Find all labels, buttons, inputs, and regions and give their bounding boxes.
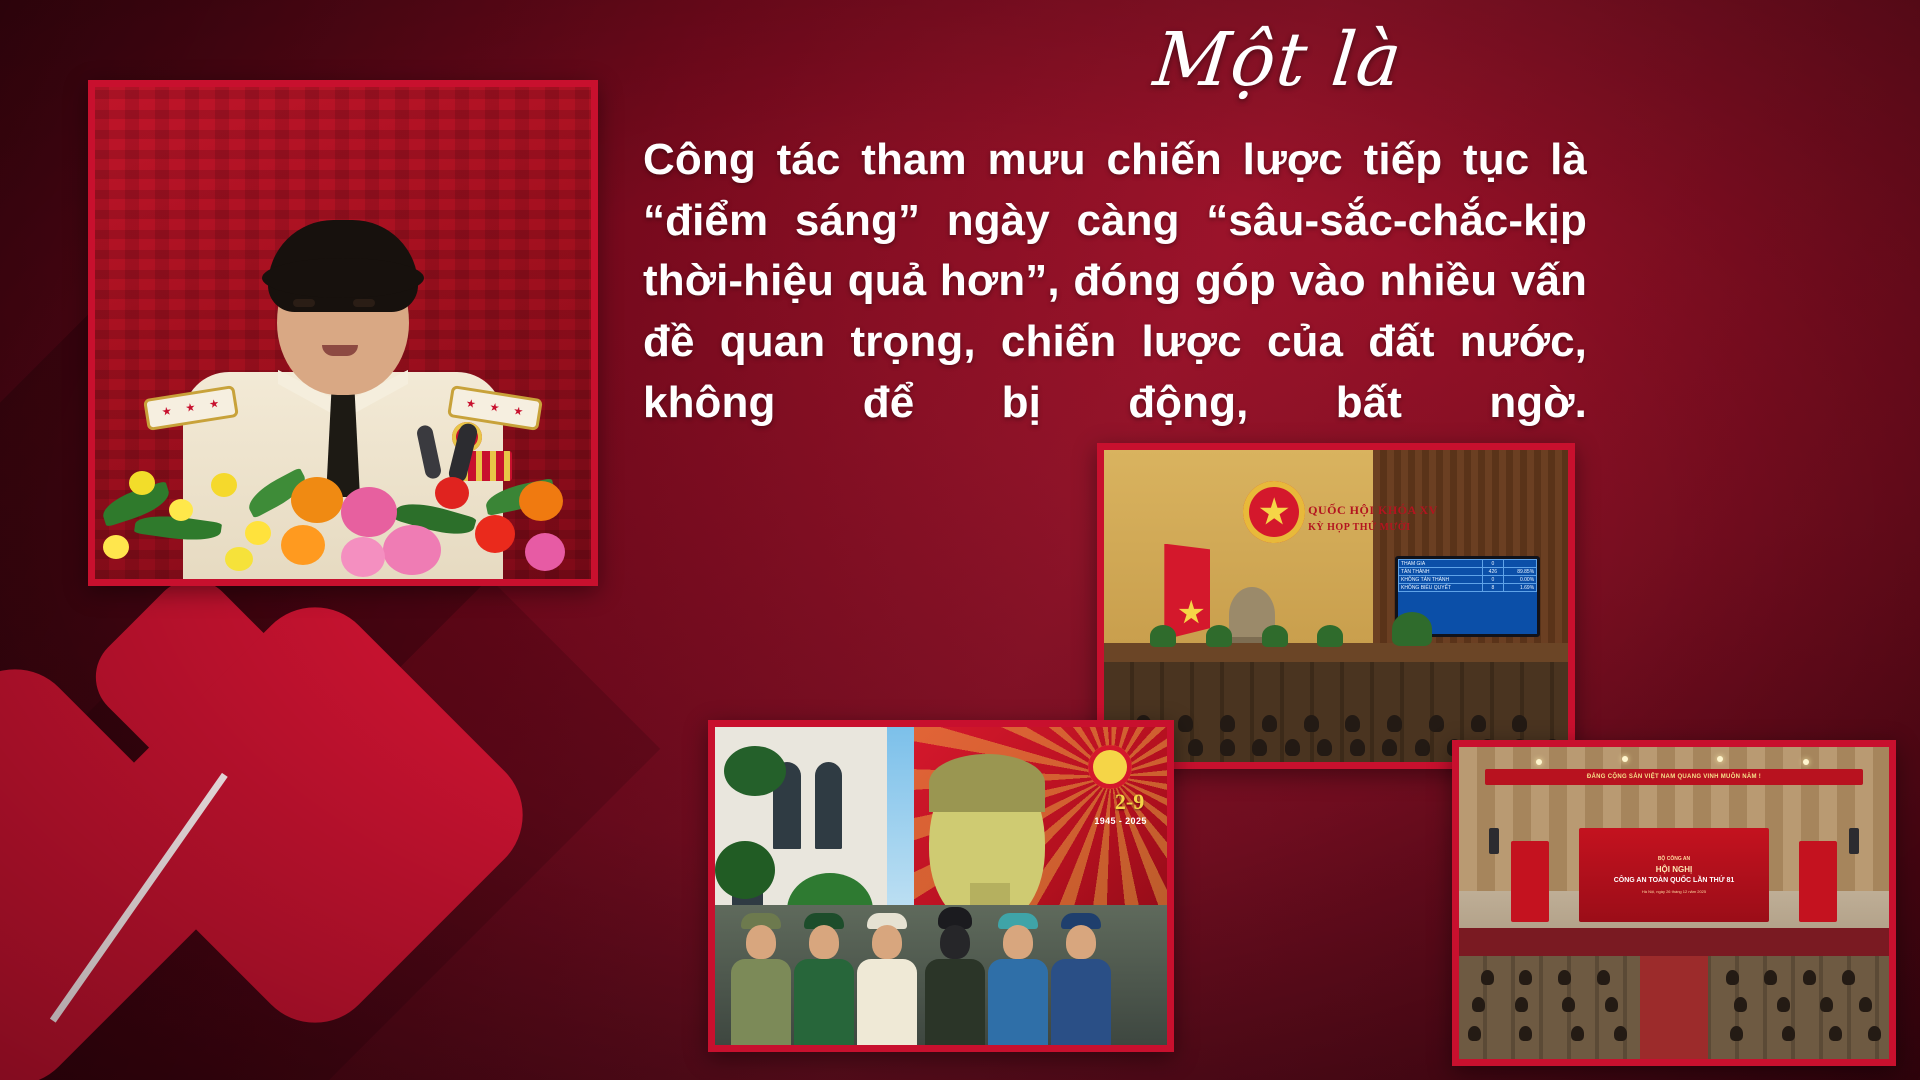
table-row: TÁN THÀNH 426 89.85%	[1398, 568, 1536, 576]
backdrop-line-1: BỘ CÔNG AN	[1658, 856, 1690, 862]
conference-hall-banner: ĐẢNG CỘNG SẢN VIỆT NAM QUANG VINH MUÔN N…	[1485, 769, 1863, 785]
mural-years-label: 1945 - 2025	[1094, 816, 1146, 826]
street-image: 2-9 1945 - 2025	[715, 727, 1167, 1045]
officer-militia	[729, 913, 793, 1045]
vote-label: KHÔNG TÁN THÀNH	[1398, 576, 1482, 584]
assembly-banner-line-1: QUỐC HỘI KHÓA XV	[1308, 503, 1438, 518]
officer-volunteer	[986, 913, 1050, 1045]
assembly-image: QUỐC HỘI KHÓA XV KỲ HỌP THỨ MƯỜI THAM GI…	[1104, 450, 1568, 762]
portrait-image	[95, 87, 591, 579]
photo-national-day-mural-patrol: 2-9 1945 - 2025	[708, 720, 1174, 1052]
portrait-eye-right	[353, 299, 375, 307]
slide-body-paragraph: Công tác tham mưu chiến lược tiếp tục là…	[643, 130, 1587, 494]
conference-backdrop: BỘ CÔNG AN HỘI NGHỊ CÔNG AN TOÀN QUỐC LẦ…	[1579, 828, 1768, 922]
backdrop-line-3: CÔNG AN TOÀN QUỐC LẦN THỨ 81	[1614, 877, 1735, 885]
vote-count: 0	[1483, 576, 1503, 584]
vote-percent	[1503, 560, 1537, 568]
backdrop-line-4: Hà Nội, ngày 26 tháng 12 năm 2025	[1642, 889, 1706, 894]
mural-national-emblem-icon	[1088, 745, 1132, 789]
officer-tactical-unit	[923, 907, 987, 1045]
conference-side-panel-left	[1511, 841, 1550, 922]
table-row: KHÔNG BIỂU QUYẾT 8 1.69%	[1398, 584, 1536, 592]
portrait-mouth	[322, 345, 358, 356]
vote-label: KHÔNG BIỂU QUYẾT	[1398, 584, 1482, 592]
officer-civil-defense	[1049, 913, 1113, 1045]
conference-stage	[1459, 928, 1889, 956]
mural-portrait-hair	[929, 754, 1045, 812]
vote-label: THAM GIA	[1398, 560, 1482, 568]
conference-side-panel-right	[1799, 841, 1838, 922]
vote-label: TÁN THÀNH	[1398, 568, 1482, 576]
assembly-banner-line-2: KỲ HỌP THỨ MƯỜI	[1308, 522, 1410, 533]
slide-canvas: Một là Công tác tham mưu chiến lược tiếp…	[0, 0, 1920, 1080]
slide-script-heading: Một là	[1134, 22, 1422, 100]
vote-count: 8	[1483, 584, 1503, 592]
national-emblem-icon	[1243, 481, 1305, 543]
portrait-eye-left	[293, 299, 315, 307]
vote-percent: 1.69%	[1503, 584, 1537, 592]
mural-date-label: 2-9	[1115, 789, 1144, 815]
vote-count: 426	[1483, 568, 1503, 576]
table-row: THAM GIA 0	[1398, 560, 1536, 568]
table-row: KHÔNG TÁN THÀNH 0 0.00%	[1398, 576, 1536, 584]
vote-percent: 89.85%	[1503, 568, 1537, 576]
officer-police-green	[792, 913, 856, 1045]
photo-senior-police-officer-speech	[88, 80, 598, 586]
photo-national-security-conference-hall: ĐẢNG CỘNG SẢN VIỆT NAM QUANG VINH MUÔN N…	[1452, 740, 1896, 1066]
backdrop-line-2: HỘI NGHỊ	[1656, 865, 1692, 874]
portrait-flower-arrangement	[95, 451, 591, 579]
vote-result-table: THAM GIA 0 TÁN THÀNH 426 89.85% KHÔNG TÁ…	[1398, 559, 1537, 592]
vote-percent: 0.00%	[1503, 576, 1537, 584]
conference-center-aisle	[1640, 956, 1709, 1059]
vote-count: 0	[1483, 560, 1503, 568]
officer-traffic-police	[855, 913, 919, 1045]
conference-image: ĐẢNG CỘNG SẢN VIỆT NAM QUANG VINH MUÔN N…	[1459, 747, 1889, 1059]
vietnam-flag-icon	[1164, 544, 1210, 640]
hall-banner-text: ĐẢNG CỘNG SẢN VIỆT NAM QUANG VINH MUÔN N…	[1587, 774, 1761, 780]
